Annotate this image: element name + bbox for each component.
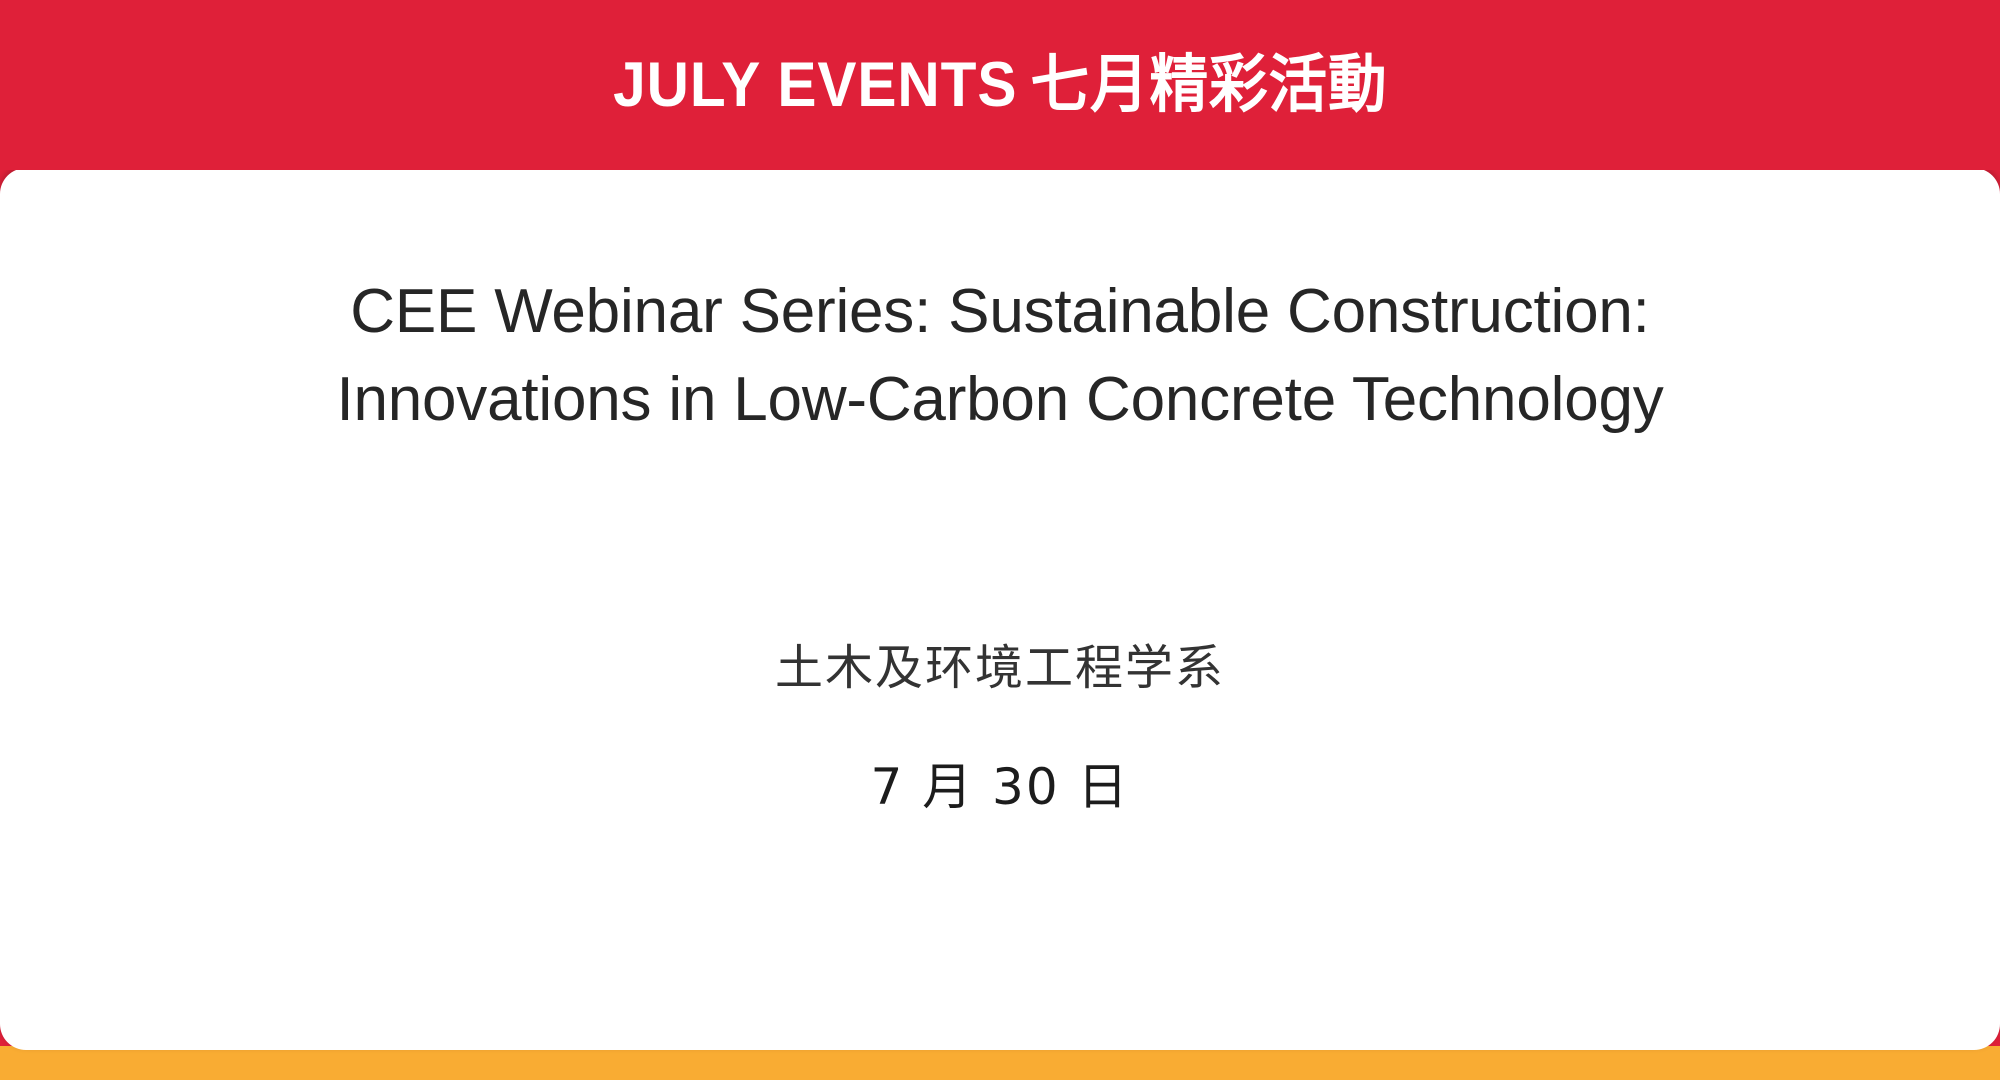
footer-accent-bar — [0, 1046, 2000, 1080]
banner-title-english: JULY EVENTS — [613, 50, 1017, 120]
department-name: 土木及环境工程学系 — [255, 638, 1745, 698]
event-date: 7 月 30 日 — [255, 756, 1745, 818]
content-card-inner: CEE Webinar Series: Sustainable Construc… — [0, 168, 2000, 1050]
july-events-poster: JULY EVENTS七月精彩活動 CEE Webinar Series: Su… — [0, 0, 2000, 1080]
event-title: CEE Webinar Series: Sustainable Construc… — [255, 268, 1745, 444]
content-card: CEE Webinar Series: Sustainable Construc… — [0, 168, 2000, 1050]
banner-title: JULY EVENTS七月精彩活動 — [613, 54, 1387, 117]
banner-header: JULY EVENTS七月精彩活動 — [0, 0, 2000, 170]
banner-title-chinese: 七月精彩活動 — [1030, 50, 1387, 120]
